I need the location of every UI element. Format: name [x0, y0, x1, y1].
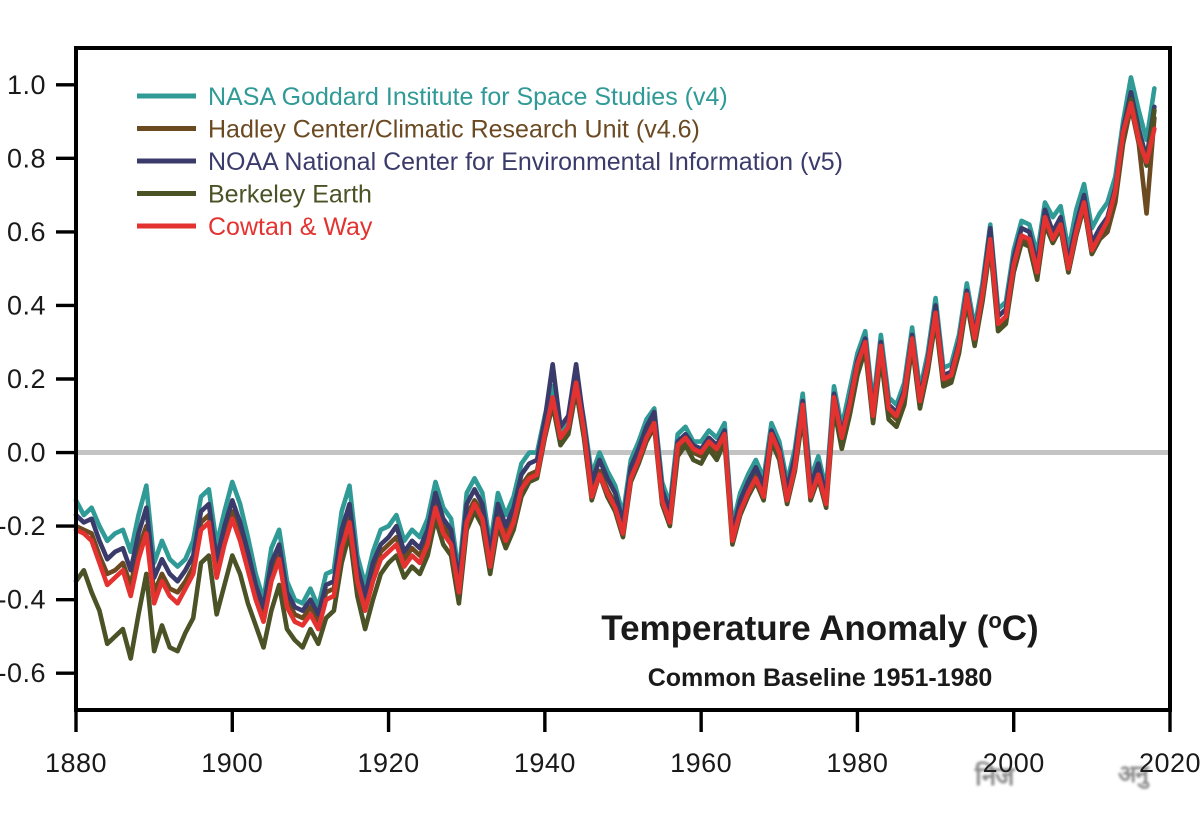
x-tick-label: 1960	[670, 748, 732, 778]
temperature-anomaly-chart: 18801900192019401960198020002020 -0.6-0.…	[0, 0, 1200, 820]
x-axis-ticks	[76, 710, 1170, 732]
chart-title: Temperature Anomaly (oC)	[601, 608, 1038, 649]
x-tick-label: 1880	[45, 748, 107, 778]
y-axis-tick-labels: -0.6-0.4-0.20.00.20.40.60.81.0	[0, 70, 46, 688]
x-tick-label: 1900	[201, 748, 263, 778]
legend-label-3: NOAA National Center for Environmental I…	[208, 148, 843, 176]
x-tick-label: 2020	[1139, 748, 1200, 778]
y-tick-label: 1.0	[7, 70, 46, 100]
legend-label-1: NASA Goddard Institute for Space Studies…	[208, 83, 728, 111]
x-tick-label: 1940	[514, 748, 576, 778]
chart-subtitle: Common Baseline 1951-1980	[648, 664, 993, 692]
x-tick-label: 2000	[983, 748, 1045, 778]
x-axis-tick-labels: 18801900192019401960198020002020	[45, 748, 1200, 778]
y-tick-label: 0.2	[7, 364, 46, 394]
y-tick-label: 0.6	[7, 217, 46, 247]
x-tick-label: 1980	[826, 748, 888, 778]
legend-label-5: Cowtan & Way	[208, 213, 373, 241]
legend-label-4: Berkeley Earth	[208, 181, 372, 209]
y-tick-label: 0.4	[7, 290, 46, 320]
chart-canvas: 18801900192019401960198020002020 -0.6-0.…	[0, 0, 1200, 820]
legend-label-2: Hadley Center/Climatic Research Unit (v4…	[208, 116, 700, 144]
y-tick-label: -0.4	[0, 585, 46, 615]
y-tick-label: 0.8	[7, 143, 46, 173]
y-tick-label: 0.0	[7, 438, 46, 468]
y-axis-ticks	[56, 85, 76, 673]
y-tick-label: -0.6	[0, 658, 46, 688]
y-tick-label: -0.2	[0, 511, 46, 541]
x-tick-label: 1920	[358, 748, 420, 778]
